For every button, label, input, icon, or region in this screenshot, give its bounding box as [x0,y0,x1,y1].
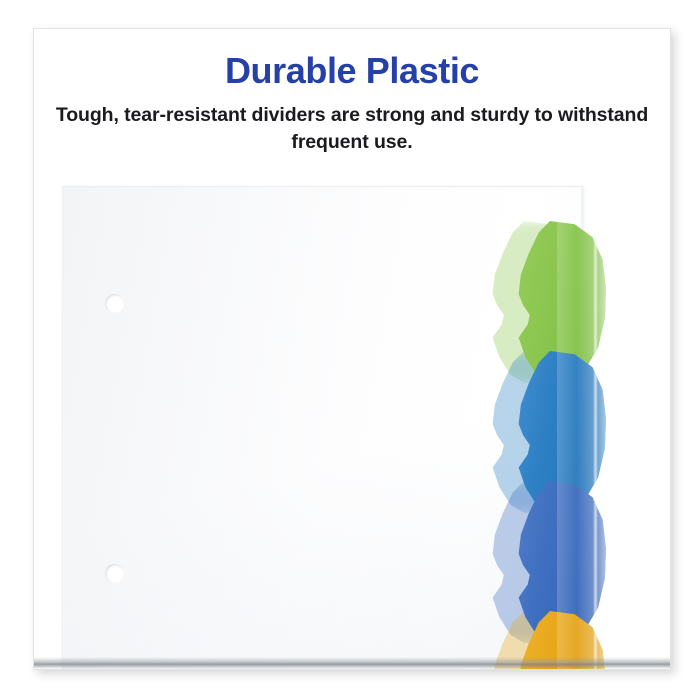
punch-hole-bottom [105,564,124,583]
punch-hole-top [105,294,124,313]
product-image-card: Durable Plastic Tough, tear-resistant di… [33,28,671,670]
headline-block: Durable Plastic Tough, tear-resistant di… [34,29,670,156]
green-tab-highlight [594,231,597,374]
product-photo [34,179,670,669]
blue-tab-highlight [594,361,597,504]
page-title: Durable Plastic [34,29,670,93]
navy-tab-highlight [594,491,597,634]
base-shadow [34,657,670,669]
page-subtitle: Tough, tear-resistant dividers are stron… [34,93,670,156]
